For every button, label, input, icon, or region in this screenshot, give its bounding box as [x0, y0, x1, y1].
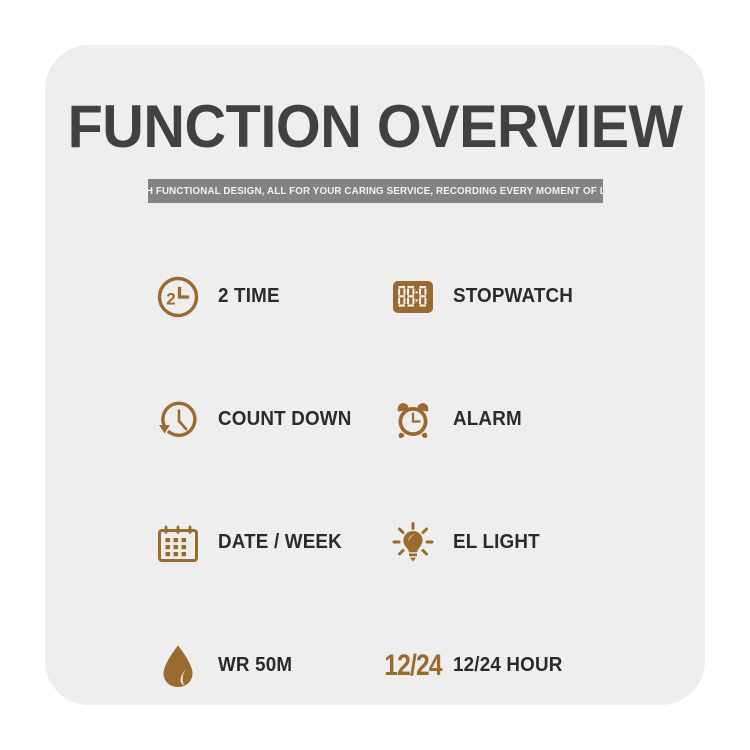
svg-text:2: 2 — [166, 289, 175, 308]
feature-label: ALARM — [453, 408, 522, 431]
feature-item-2-time[interactable]: 2 2 TIME — [155, 235, 390, 358]
subtitle-text: EACH FUNCTIONAL DESIGN, ALL FOR YOUR CAR… — [125, 185, 624, 197]
poster-header: FUNCTION OVERVIEW EACH FUNCTIONAL DESIGN… — [45, 97, 705, 203]
feature-label: WR 50M — [218, 654, 292, 677]
stopwatch-digital-icon — [390, 274, 436, 320]
calendar-icon — [155, 520, 201, 566]
feature-label: DATE / WEEK — [218, 531, 342, 554]
light-bulb-icon — [390, 520, 436, 566]
water-drop-icon — [155, 643, 201, 689]
feature-grid: 2 2 TIME — [155, 235, 615, 727]
feature-label: STOPWATCH — [453, 285, 573, 308]
feature-label: 2 TIME — [218, 285, 280, 308]
count-down-clock-icon — [155, 397, 201, 443]
feature-item-12-24-hour[interactable]: 12/24 12/24 HOUR — [390, 604, 615, 727]
feature-item-el-light[interactable]: EL LIGHT — [390, 481, 615, 604]
subtitle-banner: EACH FUNCTIONAL DESIGN, ALL FOR YOUR CAR… — [148, 179, 603, 203]
two-time-clock-icon: 2 — [155, 274, 201, 320]
function-overview-card: FUNCTION OVERVIEW EACH FUNCTIONAL DESIGN… — [45, 45, 705, 705]
feature-item-wr-50m[interactable]: WR 50M — [155, 604, 390, 727]
feature-item-date-week[interactable]: DATE / WEEK — [155, 481, 390, 604]
alarm-clock-icon — [390, 397, 436, 443]
feature-item-stopwatch[interactable]: STOPWATCH — [390, 235, 615, 358]
feature-label: COUNT DOWN — [218, 408, 351, 431]
feature-item-alarm[interactable]: ALARM — [390, 358, 615, 481]
feature-item-count-down[interactable]: COUNT DOWN — [155, 358, 390, 481]
feature-label: EL LIGHT — [453, 531, 540, 554]
twelve-twentyfour-text-icon: 12/24 — [390, 643, 436, 689]
twelve-twentyfour-glyph: 12/24 — [384, 649, 441, 683]
feature-label: 12/24 HOUR — [453, 654, 563, 677]
page-title: FUNCTION OVERVIEW — [58, 97, 692, 157]
